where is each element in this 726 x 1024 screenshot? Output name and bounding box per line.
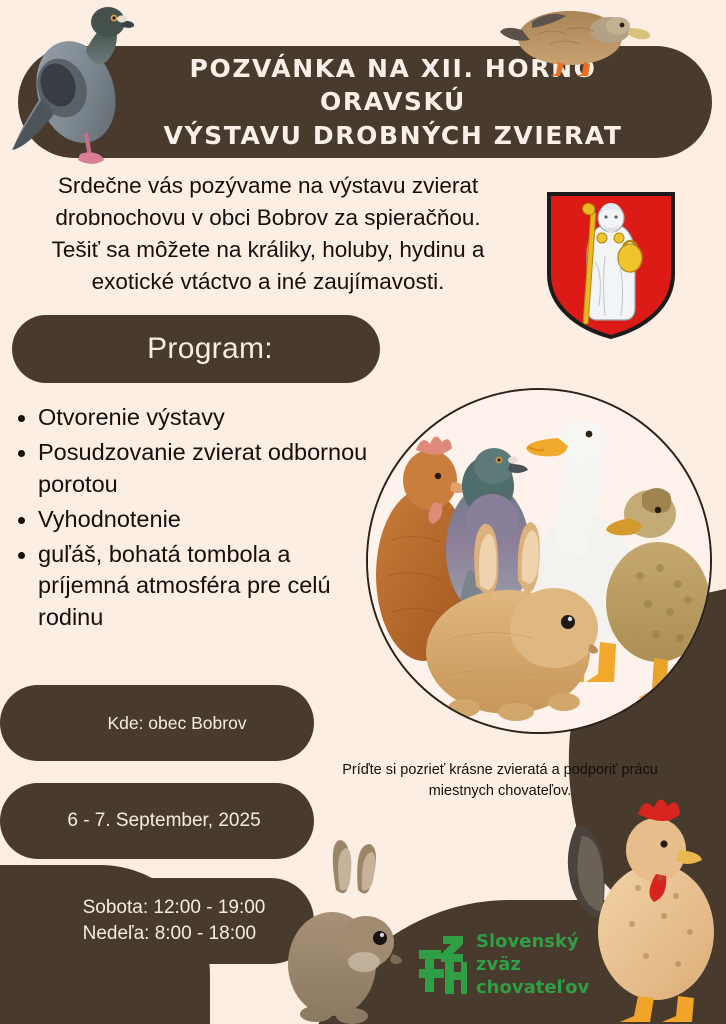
logo-line-2: zväz (476, 953, 589, 976)
hours-label: Sobota: 12:00 - 19:00 Nedeľa: 8:00 - 18:… (49, 895, 266, 946)
szch-logo-text: Slovenský zväz chovateľov (476, 930, 589, 999)
szch-logo: Slovenský zväz chovateľov (415, 930, 589, 999)
caption-line-1: Príďte si pozrieť krásne zvieratá a podp… (300, 760, 700, 781)
date-pill: 6 - 7. September, 2025 (0, 783, 314, 859)
intro-paragraph: Srdečne vás pozývame na výstavu zvierat … (8, 170, 528, 298)
hours-saturday: Sobota: 12:00 - 19:00 (83, 897, 266, 918)
logo-line-1: Slovenský (476, 930, 589, 953)
animals-illustration (368, 390, 710, 732)
intro-line-3: Tešiť sa môžete na králiky, holuby, hydi… (8, 234, 528, 266)
duck-photo (498, 0, 658, 78)
coat-of-arms-bobrov (545, 190, 677, 340)
animals-circle-photo (366, 388, 712, 734)
intro-line-2: drobnochovu v obci Bobrov za spieračňou. (8, 202, 528, 234)
intro-line-1: Srdečne vás pozývame na výstavu zvierat (8, 170, 528, 202)
rabbit-photo (288, 838, 406, 1024)
program-heading-pill: Program: (12, 315, 380, 383)
hours-pill: Sobota: 12:00 - 19:00 Nedeľa: 8:00 - 18:… (0, 878, 314, 964)
program-list: Otvorenie výstavy Posudzovanie zvierat o… (8, 402, 368, 637)
hours-sunday: Nedeľa: 8:00 - 18:00 (83, 923, 257, 944)
program-item: guľáš, bohatá tombola a príjemná atmosfé… (8, 539, 368, 633)
program-heading-label: Program: (119, 332, 273, 366)
pigeon-photo (8, 0, 138, 172)
program-item: Posudzovanie zvierat odbornou porotou (8, 437, 368, 500)
date-label: 6 - 7. September, 2025 (53, 810, 260, 832)
location-pill: Kde: obec Bobrov (0, 685, 314, 761)
header-title-line2: VÝSTAVU DROBNÝCH ZVIERAT (114, 119, 672, 152)
logo-line-3: chovateľov (476, 976, 589, 999)
intro-line-4: exotické vtáctvo a iné zaujímavosti. (8, 266, 528, 298)
program-item: Otvorenie výstavy (8, 402, 368, 433)
location-label: Kde: obec Bobrov (67, 713, 246, 734)
szch-logo-mark-icon (415, 934, 467, 996)
poster-root: POZVÁNKA NA XII. HORNO ORAVSKÚ VÝSTAVU D… (0, 0, 726, 1024)
program-item: Vyhodnotenie (8, 504, 368, 535)
